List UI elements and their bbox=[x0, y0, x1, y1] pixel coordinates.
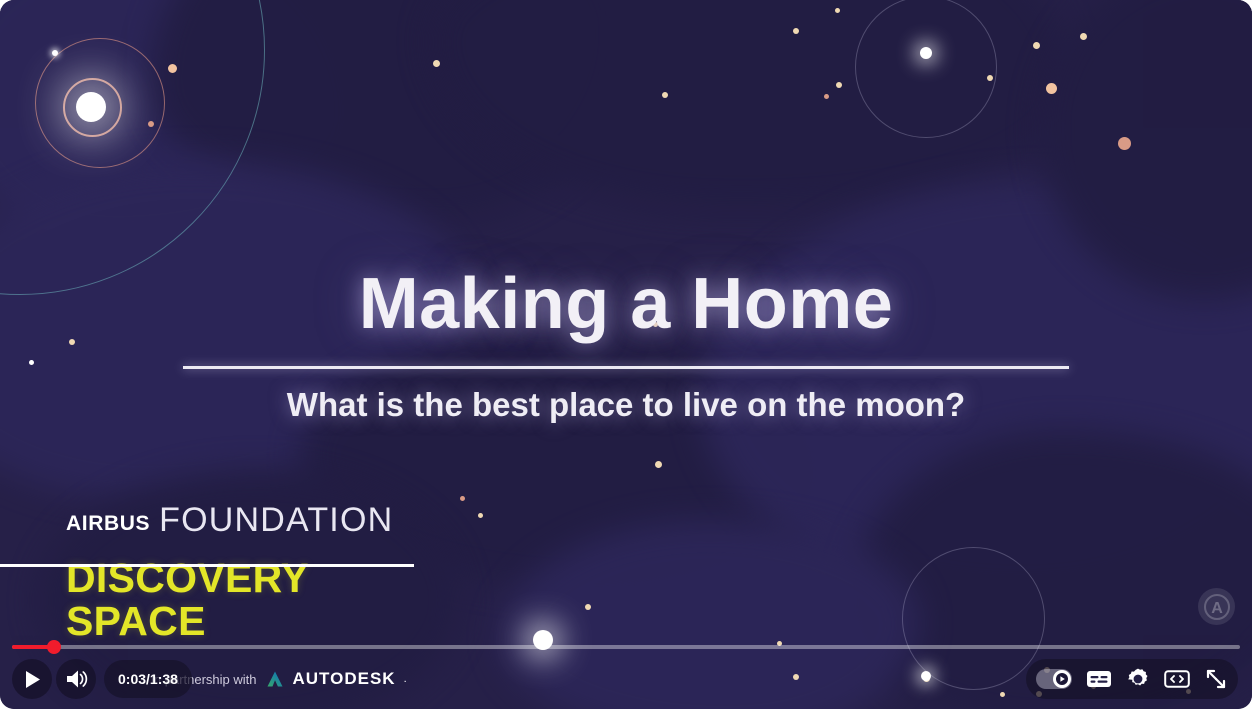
star-small bbox=[793, 674, 799, 680]
title-divider bbox=[183, 366, 1069, 369]
page-title: Making a Home bbox=[0, 268, 1252, 340]
star-bright-secondary bbox=[920, 47, 932, 59]
autoplay-toggle[interactable] bbox=[1036, 669, 1072, 689]
orbit-ring-bottom-right bbox=[902, 547, 1045, 690]
time-display: 0:03 / 1:38 bbox=[104, 660, 192, 698]
time-current: 0:03 bbox=[118, 671, 146, 687]
airbus-foundation-logo: AIRBUS FOUNDATION DISCOVERY SPACE bbox=[66, 503, 426, 643]
star-small bbox=[433, 60, 440, 67]
star-small bbox=[168, 64, 177, 73]
player-controls-left: 0:03 / 1:38 bbox=[12, 659, 192, 699]
progress-bar[interactable] bbox=[12, 645, 1240, 649]
svg-text:A: A bbox=[1211, 600, 1223, 617]
star-small bbox=[824, 94, 829, 99]
star-small bbox=[1000, 692, 1005, 697]
autodesk-trademark: . bbox=[404, 673, 407, 685]
title-card: Making a Home What is the best place to … bbox=[0, 268, 1252, 424]
star-bright-orbiting bbox=[921, 671, 931, 681]
time-duration: 1:38 bbox=[150, 671, 178, 687]
star-bright-primary bbox=[76, 92, 106, 122]
star-small bbox=[460, 496, 465, 501]
star-small bbox=[1033, 42, 1040, 49]
star-small bbox=[793, 28, 799, 34]
autoplay-toggle-knob bbox=[1053, 670, 1071, 688]
fullscreen-button[interactable] bbox=[1204, 667, 1228, 691]
discovery-space-wordmark: DISCOVERY SPACE bbox=[66, 557, 426, 643]
star-small bbox=[52, 50, 58, 56]
star-small bbox=[662, 92, 668, 98]
star-small bbox=[987, 75, 993, 81]
fullscreen-icon bbox=[1204, 667, 1228, 691]
star-small bbox=[1080, 33, 1087, 40]
star-small bbox=[1118, 137, 1131, 150]
play-icon bbox=[24, 670, 41, 689]
volume-icon bbox=[65, 669, 88, 689]
star-small bbox=[1046, 83, 1057, 94]
star-small bbox=[835, 8, 840, 13]
watermark-a-icon: A bbox=[1204, 594, 1230, 620]
star-small bbox=[478, 513, 483, 518]
player-controls-right bbox=[1026, 659, 1238, 699]
autoplay-play-icon bbox=[1056, 673, 1068, 685]
settings-gear-icon bbox=[1126, 667, 1150, 691]
autodesk-logo-icon bbox=[265, 669, 285, 689]
subtitles-icon bbox=[1086, 669, 1112, 689]
orbit-ring-top-right bbox=[855, 0, 997, 138]
brand-divider bbox=[0, 564, 414, 567]
space-line: SPACE bbox=[66, 600, 426, 643]
channel-watermark[interactable]: A bbox=[1198, 588, 1235, 625]
foundation-wordmark: FOUNDATION bbox=[159, 503, 393, 537]
discovery-line: DISCOVERY bbox=[66, 555, 309, 601]
autodesk-wordmark: AUTODESK bbox=[293, 669, 396, 689]
star-small bbox=[148, 121, 154, 127]
page-subtitle: What is the best place to live on the mo… bbox=[0, 386, 1252, 424]
settings-button[interactable] bbox=[1126, 667, 1150, 691]
airbus-wordmark: AIRBUS bbox=[66, 513, 150, 537]
star-small bbox=[585, 604, 591, 610]
volume-button[interactable] bbox=[56, 659, 96, 699]
embed-icon bbox=[1164, 669, 1190, 689]
star-small bbox=[655, 461, 662, 468]
progress-scrubber[interactable] bbox=[47, 640, 61, 654]
video-player[interactable]: Making a Home What is the best place to … bbox=[0, 0, 1252, 709]
miniplayer-button[interactable] bbox=[1164, 669, 1190, 689]
play-button[interactable] bbox=[12, 659, 52, 699]
subtitles-button[interactable] bbox=[1086, 669, 1112, 689]
star-small bbox=[836, 82, 842, 88]
